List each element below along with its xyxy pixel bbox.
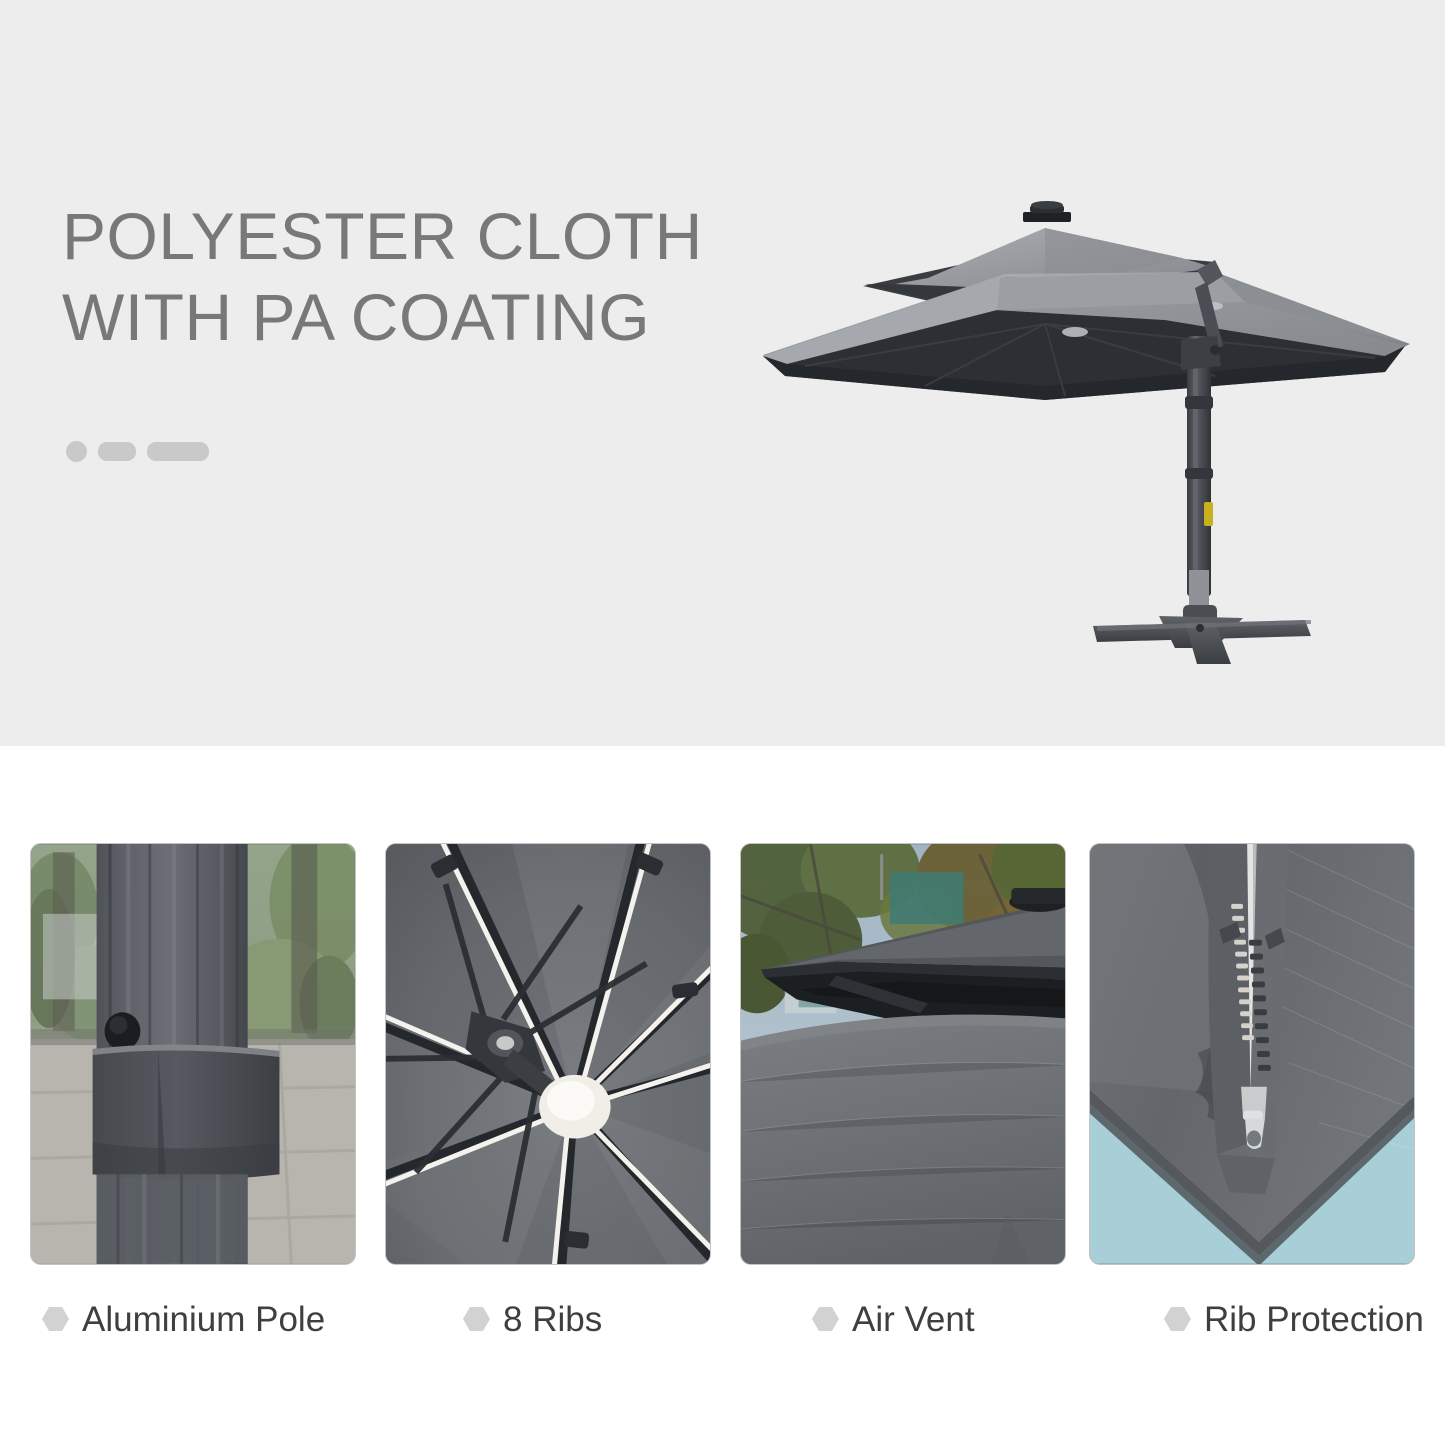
hexagon-icon — [463, 1307, 490, 1331]
feature-label: Air Vent — [852, 1302, 975, 1337]
feature-thumbnail-strip — [0, 843, 1445, 1265]
feature-label: Rib Protection — [1204, 1302, 1424, 1337]
hexagon-icon — [42, 1307, 69, 1331]
feature-label: 8 Ribs — [503, 1302, 602, 1337]
decorative-pill-large — [147, 442, 209, 461]
feature-caption-air-vent: Air Vent — [812, 1295, 975, 1343]
feature-caption-aluminium-pole: Aluminium Pole — [42, 1295, 325, 1343]
decorative-pill-group — [66, 441, 209, 462]
hexagon-icon — [1164, 1307, 1191, 1331]
feature-caption-eight-ribs: 8 Ribs — [463, 1295, 602, 1343]
feature-caption-rib-protection: Rib Protection — [1164, 1295, 1424, 1343]
decorative-pill-small — [98, 442, 136, 461]
feature-caption-row: Aluminium Pole 8 Ribs Air Vent Rib Prote… — [0, 1295, 1445, 1355]
thumbnail-eight-ribs[interactable] — [385, 843, 711, 1265]
thumbnail-air-vent[interactable] — [740, 843, 1066, 1265]
thumbnail-rib-protection[interactable] — [1089, 843, 1415, 1265]
page-title: POLYESTER CLOTH WITH PA COATING — [62, 196, 822, 357]
hexagon-icon — [812, 1307, 839, 1331]
feature-label: Aluminium Pole — [82, 1302, 325, 1337]
product-image-umbrella — [745, 150, 1445, 670]
hero-panel: POLYESTER CLOTH WITH PA COATING — [0, 0, 1445, 746]
thumbnail-aluminium-pole[interactable] — [30, 843, 356, 1265]
decorative-dot — [66, 441, 87, 462]
